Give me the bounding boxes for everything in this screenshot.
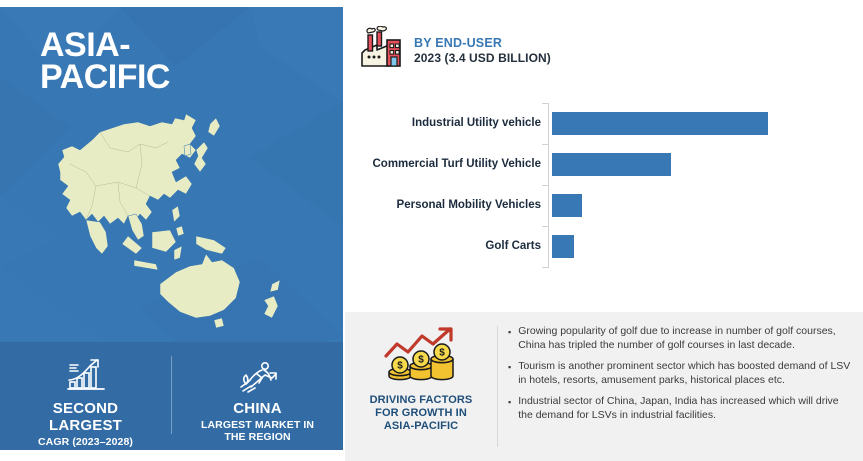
list-item: ▪ Growing popularity of golf due to incr…: [508, 324, 851, 352]
badge-second-largest-sub: CAGR (2023–2028): [38, 436, 133, 448]
bar-category-label: Commercial Turf Utility Vehicle: [345, 158, 548, 172]
growth-bar-chart-icon: [64, 355, 108, 395]
driving-factors-list: ▪ Growing popularity of golf due to incr…: [498, 312, 863, 461]
bar-chart: Industrial Utility vehicle Commercial Tu…: [345, 95, 863, 280]
money-growth-icon: $ $ $: [380, 326, 462, 389]
bar-industrial-utility-vehicle: [552, 112, 768, 135]
badge-second-largest: SECOND LARGEST CAGR (2023–2028): [0, 342, 171, 448]
list-item: ▪ Industrial sector of China, Japan, Ind…: [508, 394, 851, 422]
bar-category-label: Golf Carts: [345, 240, 548, 254]
chart-header: BY END-USER 2023 (3.4 USD BILLION): [357, 26, 551, 75]
bullet-icon: ▪: [508, 325, 511, 352]
bar-row: Industrial Utility vehicle: [345, 103, 863, 144]
bar-row: Commercial Turf Utility Vehicle: [345, 144, 863, 185]
badge-china-sub: LARGEST MARKET IN THE REGION: [194, 419, 322, 443]
axis-tick: [542, 267, 548, 268]
bullet-icon: ▪: [508, 360, 511, 387]
rocket-person-icon: [235, 355, 281, 395]
asia-pacific-map-icon: [0, 102, 343, 337]
list-item-text: Tourism is another prominent sector whic…: [518, 359, 851, 387]
driving-factors-title: DRIVING FACTORS FOR GROWTH IN ASIA-PACIF…: [370, 394, 473, 433]
bar-category-label: Industrial Utility vehicle: [345, 117, 548, 131]
badge-china-title: CHINA: [233, 400, 282, 417]
badge-second-largest-title: SECOND LARGEST: [49, 400, 122, 434]
list-item-text: Industrial sector of China, Japan, India…: [518, 394, 851, 422]
badge-row: SECOND LARGEST CAGR (2023–2028): [0, 342, 343, 450]
svg-text:$: $: [439, 348, 445, 359]
list-item: ▪ Tourism is another prominent sector wh…: [508, 359, 851, 387]
bar-personal-mobility-vehicles: [552, 194, 582, 217]
bar-row: Personal Mobility Vehicles: [345, 185, 863, 226]
svg-text:$: $: [397, 361, 403, 372]
chart-kicker: BY END-USER: [414, 36, 551, 50]
bar-commercial-turf-utility-vehicle: [552, 153, 671, 176]
bullet-icon: ▪: [508, 395, 511, 422]
svg-text:$: $: [418, 355, 424, 366]
region-panel: ASIA- PACIFIC: [0, 7, 343, 450]
driving-factors-panel: $ $ $ DRIVING FACTORS FOR GROWTH IN ASIA…: [345, 312, 863, 461]
infographic-root: ASIA- PACIFIC: [0, 0, 863, 461]
chart-panel: BY END-USER 2023 (3.4 USD BILLION) Indus…: [345, 0, 863, 310]
list-item-text: Growing popularity of golf due to increa…: [518, 324, 851, 352]
bar-row: Golf Carts: [345, 226, 863, 267]
badge-china: CHINA LARGEST MARKET IN THE REGION: [172, 342, 343, 443]
factory-icon: [357, 26, 403, 75]
page-title: ASIA- PACIFIC: [40, 29, 170, 93]
bar-category-label: Personal Mobility Vehicles: [345, 199, 548, 213]
bar-golf-carts: [552, 235, 574, 258]
chart-subtitle: 2023 (3.4 USD BILLION): [414, 51, 551, 66]
driving-factors-header: $ $ $ DRIVING FACTORS FOR GROWTH IN ASIA…: [345, 312, 497, 461]
